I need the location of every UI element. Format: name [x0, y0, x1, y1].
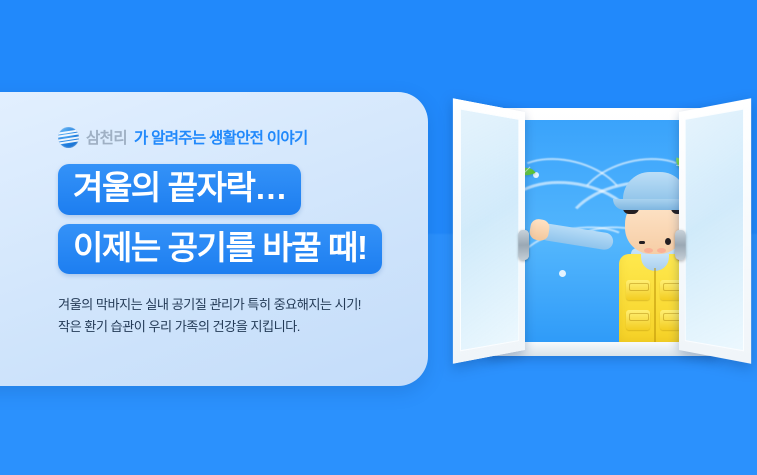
- window-opening: [499, 120, 705, 342]
- sparkle-icon: [559, 270, 566, 277]
- samchully-globe-logo-icon: [58, 127, 79, 148]
- window-glass-left: [460, 108, 519, 351]
- character-eye-right-winking: [639, 241, 645, 244]
- brand-line: 삼천리 가 알려주는 생활안전 이야기: [58, 126, 428, 148]
- vest-pocket: [626, 310, 650, 330]
- body-copy-line-1: 겨울의 막바지는 실내 공기질 관리가 특히 중요해지는 시기!: [58, 294, 428, 315]
- open-window-sash-left[interactable]: [453, 98, 525, 364]
- vest-zipper: [654, 268, 656, 342]
- brand-tagline: 가 알려주는 생활안전 이야기: [134, 126, 308, 148]
- character-blush: [644, 248, 653, 253]
- headline-line-2: 이제는 공기를 바꿀 때!: [58, 224, 382, 275]
- body-copy: 겨울의 막바지는 실내 공기질 관리가 특히 중요해지는 시기! 작은 환기 습…: [58, 294, 428, 337]
- character-eye-left: [665, 238, 671, 245]
- open-window-sash-right[interactable]: [679, 98, 751, 364]
- open-window-ventilation-scene: [447, 108, 757, 360]
- promotional-banner: 삼천리 가 알려주는 생활안전 이야기 겨울의 끝자락… 이제는 공기를 바꿀 …: [0, 0, 757, 475]
- headline-line-1: 겨울의 끝자락…: [58, 164, 301, 215]
- window-handle-right[interactable]: [675, 230, 686, 260]
- vest-pocket: [626, 280, 650, 300]
- character-blush: [657, 248, 666, 253]
- info-card-content: 삼천리 가 알려주는 생활안전 이야기 겨울의 끝자락… 이제는 공기를 바꿀 …: [0, 92, 428, 386]
- body-copy-line-2: 작은 환기 습관이 우리 가족의 건강을 지킵니다.: [58, 316, 428, 337]
- brand-name: 삼천리: [86, 126, 127, 148]
- character-hand-left: [529, 218, 551, 242]
- info-card: 삼천리 가 알려주는 생활안전 이야기 겨울의 끝자락… 이제는 공기를 바꿀 …: [0, 92, 428, 386]
- window-glass-right: [685, 108, 744, 351]
- window-handle-left[interactable]: [518, 230, 529, 260]
